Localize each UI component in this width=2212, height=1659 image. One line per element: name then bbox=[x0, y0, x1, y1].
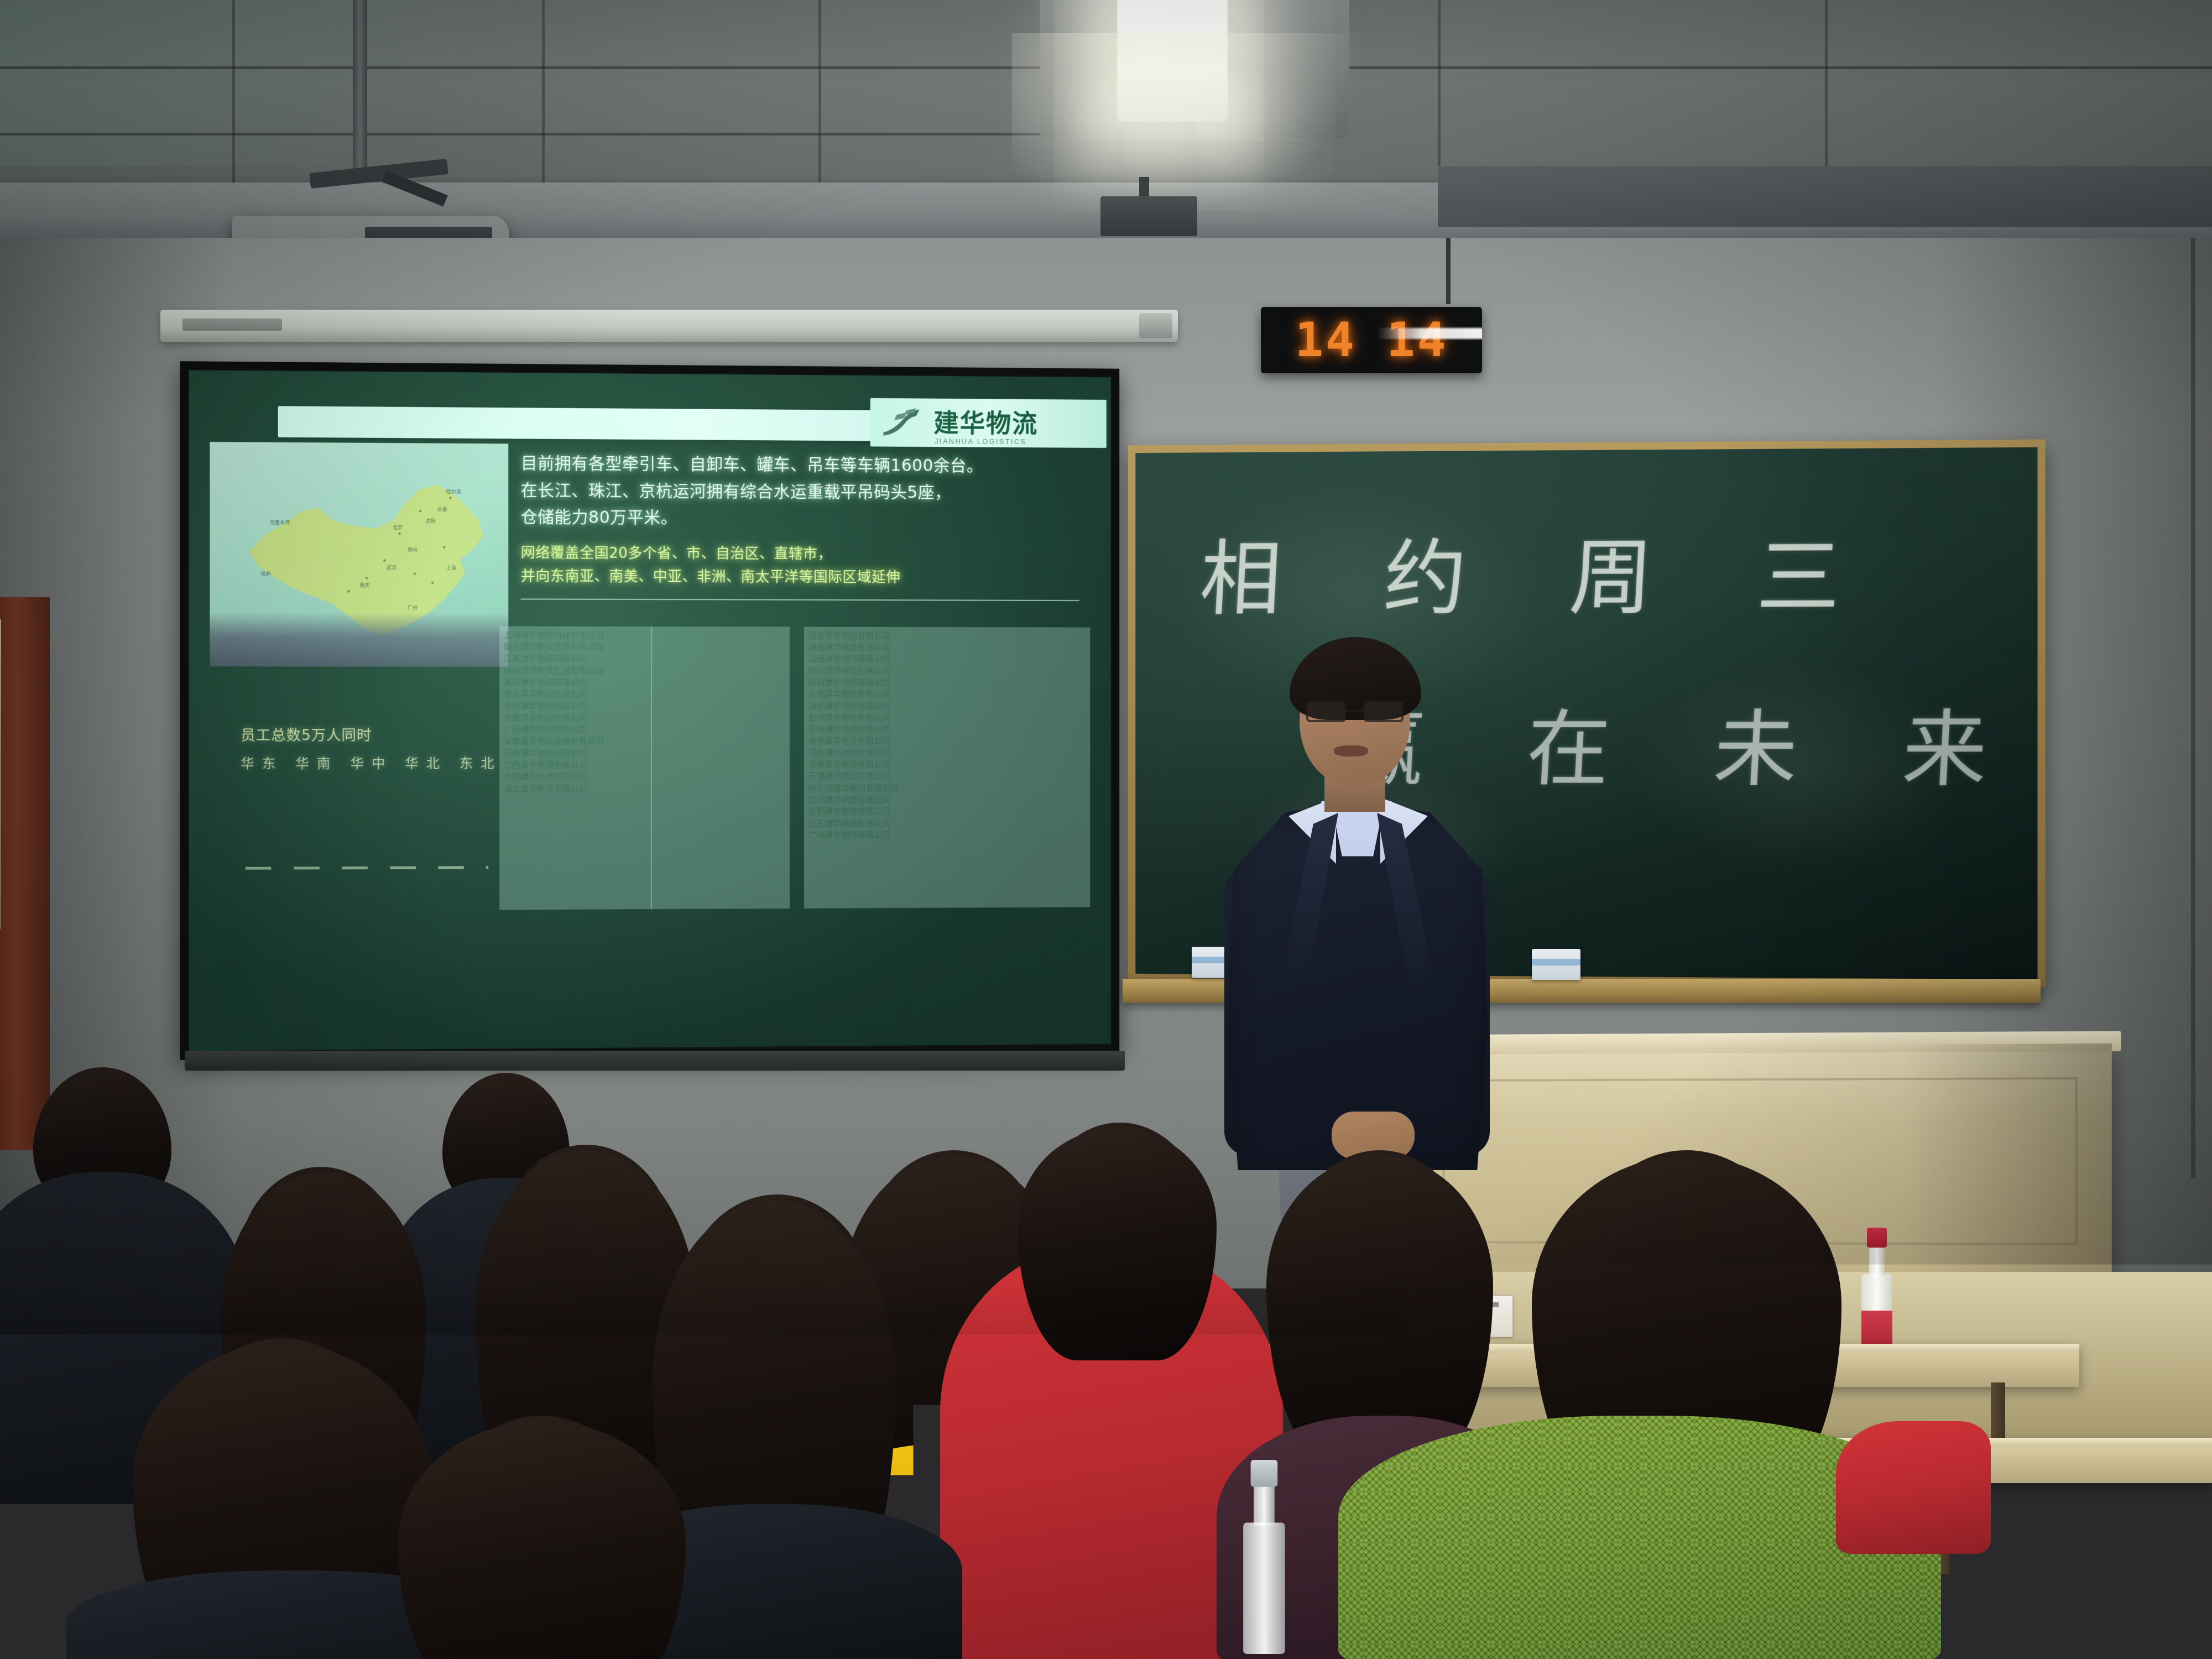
company-list-item: 江西建华物流有限公司 bbox=[504, 759, 785, 771]
glasses-icon bbox=[1306, 701, 1406, 723]
ceiling-green-tint bbox=[0, 0, 636, 166]
speaker-bracket bbox=[1139, 177, 1149, 199]
company-list-item: 湖北建华物流有限公司 bbox=[504, 782, 785, 795]
logo-mark-icon bbox=[880, 407, 928, 438]
audience-body-red-scarf bbox=[1836, 1421, 1991, 1554]
ceiling-seam bbox=[0, 133, 1051, 135]
audience-hair bbox=[1018, 1128, 1217, 1360]
chalk-box-icon[interactable] bbox=[1532, 949, 1580, 980]
clock-minutes: 14 bbox=[1386, 316, 1448, 364]
company-list-item: 潍坊建华物流有限公司 bbox=[504, 677, 785, 689]
water-bottle[interactable] bbox=[1239, 1460, 1290, 1654]
light-housing bbox=[1222, 0, 1349, 138]
column-divider bbox=[651, 627, 652, 910]
screen-mount-rail bbox=[160, 310, 1178, 342]
lectern-shadow bbox=[1903, 1044, 2112, 1279]
bottle-neck bbox=[1254, 1485, 1275, 1526]
bottle-cap-icon bbox=[1867, 1228, 1887, 1248]
light-housing bbox=[1040, 0, 1123, 138]
clock-hanger bbox=[1446, 238, 1451, 304]
slide-highlight-line: 并向东南亚、南美、中亚、非洲、南太平洋等国际区域延伸 bbox=[521, 565, 1088, 589]
door-panel bbox=[0, 619, 1, 929]
slide-footer-rule bbox=[246, 866, 488, 870]
company-list-item: 枣庄建华物流有限公司 bbox=[504, 688, 785, 700]
bottle-body bbox=[1243, 1522, 1285, 1654]
company-list-item: 陕西建华物流有限公司 bbox=[808, 677, 1086, 688]
company-list-item: 湖南建华物流有限公司 bbox=[808, 641, 1086, 654]
slide-divider-rule bbox=[521, 598, 1079, 601]
company-list-item: 广西建华物流有限公司 bbox=[504, 724, 785, 736]
slide-body-text: 目前拥有各型牵引车、自卸车、罐车、吊车等车辆1600余台。 在长江、珠江、京杭运… bbox=[521, 451, 1088, 590]
slide-footer-line-2: 华东 华南 华中 华北 东北 bbox=[241, 753, 502, 773]
ceiling-seam bbox=[1825, 0, 1828, 166]
company-list-item: 河南建华物流有限公司 bbox=[808, 747, 1086, 759]
company-list-item: 江苏建华物流有限公司 bbox=[504, 653, 785, 665]
digital-wall-clock: 14 14 bbox=[1261, 307, 1482, 373]
projector-mount-pole bbox=[353, 0, 367, 182]
screen-rail-cap bbox=[182, 319, 282, 331]
company-list-item: 上海建华物流科技有限公司 bbox=[504, 629, 785, 641]
ceiling-seam bbox=[818, 0, 821, 182]
company-list-item: 河南建华物流有限公司 bbox=[504, 748, 785, 760]
screen-rail-cap bbox=[1139, 313, 1172, 338]
ceiling-seam bbox=[232, 0, 235, 182]
audience-hair bbox=[398, 1421, 686, 1659]
company-list-item: 济南建华物流有限公司 bbox=[504, 712, 785, 724]
company-list-item: 四川建华物流有限公司 bbox=[808, 665, 1086, 677]
company-list-item: 山东建华物流有限公司 bbox=[808, 817, 1086, 830]
company-list-item: 哈尔滨建华物流有限公司 bbox=[808, 782, 1086, 794]
wall-corner bbox=[2191, 238, 2195, 1178]
company-list-item: 安徽建华物流运输有限公司 bbox=[504, 735, 785, 748]
company-list-item: 扬州建华物流配送有限公司 bbox=[504, 665, 785, 677]
company-list-item: 武汉建华物流有限公司 bbox=[808, 794, 1086, 806]
company-list: 上海建华物流科技有限公司烟台建华物流管理有限公司江苏建华物流有限公司扬州建华物流… bbox=[499, 626, 1090, 910]
company-list-item: 合肥建华物流有限公司 bbox=[504, 771, 785, 783]
company-list-item: 广州建华物流有限公司 bbox=[808, 829, 1086, 842]
slide-title-bar bbox=[278, 406, 971, 442]
door-frame bbox=[0, 597, 50, 1150]
company-list-item: 南京建华物流有限公司 bbox=[808, 735, 1086, 748]
company-logo: 建华物流 JIANHUA LOGISTICS bbox=[870, 398, 1107, 448]
company-list-item: 郑州建华物流有限公司 bbox=[808, 712, 1086, 724]
map-photo-strip bbox=[210, 613, 509, 667]
audience-body bbox=[2002, 1438, 2168, 1548]
slide-body-line: 在长江、珠江、京杭运河拥有综合水运重载平吊码头5座， bbox=[521, 477, 1088, 507]
company-list-item: 徐州建华物流有限公司 bbox=[504, 700, 785, 712]
company-list-item: 贵州建华物流有限公司 bbox=[808, 724, 1086, 735]
slide-footer-line-1: 员工总数5万人同时 bbox=[241, 724, 502, 745]
company-list-item: 山西建华物流有限公司 bbox=[808, 654, 1086, 666]
ceiling-seam bbox=[542, 0, 545, 182]
presenter-mouth bbox=[1334, 745, 1368, 757]
projection-screen[interactable]: 建华物流 JIANHUA LOGISTICS 乌鲁木齐 拉萨 北京 哈尔滨 长春 bbox=[180, 361, 1119, 1060]
china-map-panel: 乌鲁木齐 拉萨 北京 哈尔滨 长春 沈阳 郑州 武汉 上海 重庆 广州 bbox=[210, 442, 509, 667]
slide-footer-text: 员工总数5万人同时 华东 华南 华中 华北 东北 bbox=[241, 724, 502, 772]
screen-bottom-bar bbox=[185, 1051, 1125, 1071]
slide-body-line: 仓储能力80万平米。 bbox=[521, 504, 1088, 534]
bottle-cap-icon bbox=[1251, 1460, 1278, 1487]
company-list-item: 济南建华物流有限公司 bbox=[808, 759, 1086, 771]
presentation-slide: 建华物流 JIANHUA LOGISTICS 乌鲁木齐 拉萨 北京 哈尔滨 长春 bbox=[189, 370, 1111, 1051]
classroom-scene: 建华物流 JIANHUA LOGISTICS 乌鲁木齐 拉萨 北京 哈尔滨 长春 bbox=[0, 0, 2212, 1659]
wall-top-rail bbox=[1438, 166, 2212, 227]
company-list-column: 上海建华物流科技有限公司烟台建华物流管理有限公司江苏建华物流有限公司扬州建华物流… bbox=[499, 626, 790, 910]
company-list-item: 河南建华物流有限公司 bbox=[808, 630, 1086, 642]
clock-hours: 14 bbox=[1295, 316, 1357, 364]
slide-body-line: 目前拥有各型牵引车、自卸车、罐车、吊车等车辆1600余台。 bbox=[521, 451, 1088, 481]
logo-company-subtitle: JIANHUA LOGISTICS bbox=[935, 437, 1026, 446]
logo-company-name: 建华物流 bbox=[933, 410, 1038, 436]
clock-glare bbox=[1377, 328, 1482, 339]
company-list-item: 湖北建华物流有限公司 bbox=[808, 701, 1086, 712]
slide-highlight-line: 网络覆盖全国20多个省、市、自治区、直辖市， bbox=[521, 541, 1088, 567]
ceiling-speaker-icon bbox=[1100, 196, 1197, 236]
company-list-item: 烟台建华物流管理有限公司 bbox=[504, 641, 785, 654]
company-list-item: 天津建华物流有限公司 bbox=[808, 770, 1086, 782]
company-list-item: 东莞建华物流有限公司 bbox=[808, 688, 1086, 700]
ceiling-seam bbox=[1438, 0, 1441, 166]
company-list-column: 河南建华物流有限公司湖南建华物流有限公司山西建华物流有限公司四川建华物流有限公司… bbox=[804, 627, 1090, 909]
bottle-neck bbox=[1869, 1246, 1885, 1276]
fluorescent-light-icon bbox=[1117, 0, 1228, 122]
blackboard-line-1: 相 约 周 三 bbox=[1197, 509, 1884, 632]
company-list-item: 合肥建华物流有限公司 bbox=[808, 805, 1086, 817]
